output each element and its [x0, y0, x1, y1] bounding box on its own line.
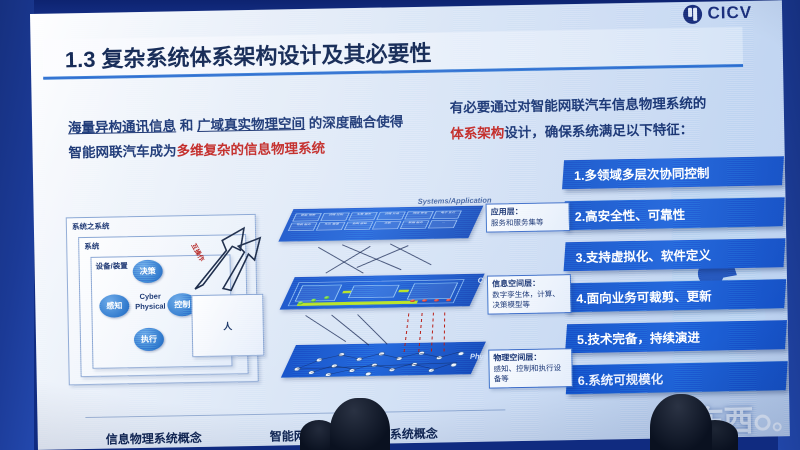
app-cell: 网络 安全 — [404, 211, 434, 220]
cyber-flow-arrow — [398, 290, 409, 293]
intro-right-line2: 体系架构设计，确保系统满足以下特征： — [450, 121, 790, 142]
intro-left-line2-highlight: 多维复杂的信息物理系统 — [176, 141, 325, 159]
caption-divider — [85, 409, 505, 418]
app-cell: 智能 驾驶 — [292, 213, 322, 222]
app-cell: 数据 服务 — [400, 220, 430, 229]
gear-icon — [754, 414, 770, 430]
cicv-logo: CICV — [683, 3, 752, 24]
app-cell: … — [428, 220, 458, 229]
callout-body: 感知、控制和执行设备等 — [494, 363, 568, 384]
app-cell: 车队 管理 — [316, 222, 346, 231]
list-item: 3.支持虚拟化、软件定义 — [564, 238, 786, 271]
app-cell: 车载 娱乐 — [348, 212, 378, 221]
audience-silhouette — [330, 398, 390, 450]
physical-link — [414, 364, 431, 369]
human-label: 人 — [223, 319, 232, 332]
cyber-model-container — [288, 279, 465, 306]
intro-left-emph1: 海量异构通讯信息 — [68, 118, 176, 135]
intro-left-line2-head: 智能网联汽车成为 — [68, 144, 176, 161]
nest-label-inner: 设备/装置 — [96, 260, 128, 272]
intro-text-right: 有必要通过对智能网联汽车信息物理系统的 体系架构设计，确保系统满足以下特征： — [450, 95, 790, 142]
cyber-box-compute — [348, 285, 400, 298]
nest-label-mid: 系统 — [84, 241, 99, 252]
intro-left-tail: 的深度融合使得 — [305, 114, 404, 131]
layer-label-application: Systems/Application — [418, 196, 492, 206]
slide-title-bar: 1.3 复杂系统体系架构设计及其必要性 — [42, 27, 743, 80]
feature-label-5: 5.技术完备，持续演进 — [566, 327, 700, 348]
human-box: 人 — [191, 294, 264, 357]
bubble-execution-label: 执行 — [141, 334, 157, 345]
screen-bezel-left — [0, 0, 34, 450]
application-service-grid: 智能 驾驶 远程 控制 车载 娱乐 远程 升级 网络 安全 电子 支付 导航 服… — [288, 210, 462, 231]
callout-physical-layer: 物理空间层： 感知、控制和执行设备等 — [488, 348, 573, 388]
architecture-layer-application: 智能 驾驶 远程 控制 车载 娱乐 远程 升级 网络 安全 电子 支付 导航 服… — [277, 195, 498, 257]
callout-body: 数字孪生体，计算、决策模型等 — [492, 289, 566, 310]
intro-left-line1: 海量异构通讯信息 和 广域真实物理空间 的深度融合使得 — [68, 115, 438, 136]
layered-architecture-diagram: 智能 驾驶 远程 控制 车载 娱乐 远程 升级 网络 安全 电子 支付 导航 服… — [277, 185, 501, 404]
list-item: 6.系统可规模化 — [566, 361, 788, 394]
feature-label-2: 2.高安全性、可靠性 — [564, 204, 686, 225]
list-item: 4.面向业务可裁剪、更新 — [564, 279, 786, 312]
cicv-logo-mark-icon — [683, 4, 702, 23]
cps-concept-diagram: 系统之系统 系统 设备/装置 决策 感知 控制 执行 Cyber Physica… — [62, 206, 271, 406]
physical-link — [431, 363, 451, 370]
gear-icon-small — [773, 422, 782, 431]
feature-requirement-list: 1.多领域多层次协同控制 2.高安全性、可靠性 3.支持虚拟化、软件定义 4.面… — [563, 156, 787, 406]
bubble-sensing-label: 感知 — [106, 300, 122, 311]
callout-cyber-layer: 信息空间层： 数字孪生体，计算、决策模型等 — [487, 274, 572, 314]
feature-label-6: 6.系统可规模化 — [567, 368, 664, 389]
interoperability-arrow-icon — [182, 216, 270, 304]
app-cell: 协同 感知 — [344, 221, 374, 230]
callout-body: 服务和服务集等 — [491, 217, 565, 228]
intro-right-highlight: 体系架构 — [450, 126, 504, 142]
app-cell: 诊断 — [372, 221, 402, 230]
app-cell: 远程 升级 — [376, 211, 406, 220]
list-item: 1.多领域多层次协同控制 — [562, 156, 784, 189]
intro-left-conj: 和 — [176, 118, 197, 133]
page-title: 1.3 复杂系统体系架构设计及其必要性 — [43, 35, 432, 74]
cicv-logo-text: CICV — [707, 3, 752, 24]
list-item: 5.技术完备，持续演进 — [565, 320, 787, 353]
physical-link — [420, 353, 440, 357]
conference-screen-photo: CICV 1.3 复杂系统体系架构设计及其必要性 海量异构通讯信息 和 广域真实… — [0, 0, 800, 450]
intro-text-left: 海量异构通讯信息 和 广域真实物理空间 的深度融合使得 智能网联汽车成为多维复杂… — [68, 115, 439, 161]
callout-title: 信息空间层： — [492, 278, 566, 289]
cyber-red-node — [422, 299, 428, 302]
app-cell: 导航 服务 — [288, 222, 318, 231]
audience-silhouette — [650, 394, 712, 450]
cyber-physical-center-label: Cyber Physical — [129, 291, 171, 312]
presentation-slide: CICV 1.3 复杂系统体系架构设计及其必要性 海量异构通讯信息 和 广域真实… — [30, 0, 790, 450]
bubble-decision-label: 决策 — [140, 266, 156, 277]
cyber-box-control — [407, 283, 459, 300]
app-cell: 电子 支付 — [432, 210, 462, 219]
callout-application-layer: 应用层： 服务和服务集等 — [486, 202, 571, 232]
cyber-red-node — [433, 299, 439, 302]
feature-label-3: 3.支持虚拟化、软件定义 — [564, 245, 711, 267]
caption-left: 信息物理系统概念 — [106, 429, 202, 448]
feature-label-1: 1.多领域多层次协同控制 — [563, 163, 710, 185]
nest-label-outer: 系统之系统 — [72, 221, 110, 233]
list-item: 2.高安全性、可靠性 — [563, 197, 785, 230]
callout-title: 物理空间层： — [493, 352, 567, 363]
physical-device-network — [284, 346, 475, 377]
intro-left-emph2: 广域真实物理空间 — [197, 116, 305, 133]
intro-right-line1: 有必要通过对智能网联汽车信息物理系统的 — [450, 95, 790, 116]
feature-label-4: 4.面向业务可裁剪、更新 — [565, 286, 712, 308]
callout-title: 应用层： — [491, 206, 565, 217]
intro-left-line2: 智能网联汽车成为多维复杂的信息物理系统 — [68, 140, 438, 161]
cyber-red-node — [445, 299, 451, 302]
architecture-layer-physical: Physical — [280, 331, 501, 393]
app-cell: 远程 控制 — [320, 212, 350, 221]
cyber-box-sensing — [295, 285, 343, 302]
intro-right-tail: 设计，确保系统满足以下特征： — [504, 122, 693, 140]
cyber-flow-arrow — [342, 291, 351, 294]
physical-label: Physical — [129, 302, 171, 313]
architecture-layer-cyber: Cyber — [279, 263, 500, 325]
